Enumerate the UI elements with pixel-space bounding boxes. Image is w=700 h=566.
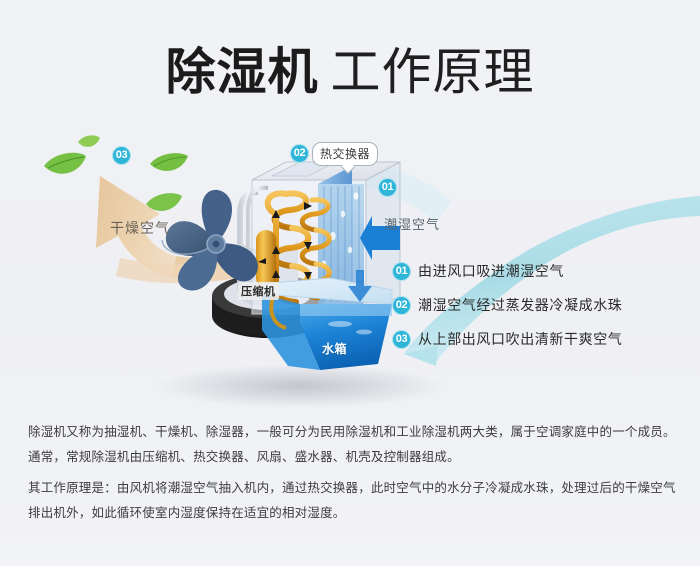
step-item-01: 01 由进风口吸进潮湿空气 (392, 254, 692, 288)
dry-air-label: 干燥空气 (110, 218, 170, 238)
humid-air-label: 潮湿空气 (384, 214, 440, 233)
heat-exchanger-label: 热交换器 (320, 147, 370, 161)
description-paragraph-1: 除湿机又称为抽湿机、干燥机、除湿器，一般可分为民用除湿机和工业除湿机两大类，属于… (28, 420, 676, 470)
step-item-02: 02 潮湿空气经过蒸发器冷凝成水珠 (392, 288, 692, 322)
dehumidifier-infographic: 除湿机工作原理 (0, 0, 700, 566)
heat-exchanger-callout: 热交换器 (312, 142, 378, 166)
description-p1-line2: 通常，常规除湿机由压缩机、热交换器、风扇、盛水器、机壳及控制器组成。 (28, 445, 676, 470)
step-badge-01: 01 (392, 262, 411, 281)
step-text-03: 从上部出风口吹出清新干爽空气 (418, 329, 622, 349)
water-tank-label: 水箱 (322, 340, 347, 357)
page-title: 除湿机工作原理 (0, 32, 700, 104)
ground-shadow (155, 364, 445, 408)
page-title-light: 工作原理 (331, 44, 535, 100)
compressor-label: 压缩机 (238, 282, 279, 300)
page-title-bold: 除湿机 (166, 44, 319, 100)
steps-list: 01 由进风口吸进潮湿空气 02 潮湿空气经过蒸发器冷凝成水珠 03 从上部出风… (392, 254, 692, 356)
description-p2-line2: 排出机外，如此循环使室内湿度保持在适宜的相对湿度。 (28, 501, 676, 526)
step-text-01: 由进风口吸进潮湿空气 (418, 261, 564, 281)
step-item-03: 03 从上部出风口吹出清新干爽空气 (392, 322, 692, 356)
diagram-badge-03: 03 (112, 146, 131, 165)
diagram-badge-01: 01 (378, 178, 397, 197)
description-p1-line1: 除湿机又称为抽湿机、干燥机、除湿器，一般可分为民用除湿机和工业除湿机两大类，属于… (28, 420, 676, 445)
diagram-badge-02: 02 (290, 144, 309, 163)
step-badge-03: 03 (392, 330, 411, 349)
description-paragraph-2: 其工作原理是：由风机将潮湿空气抽入机内，通过热交换器，此时空气中的水分子冷凝成水… (28, 476, 676, 526)
step-badge-02: 02 (392, 296, 411, 315)
step-text-02: 潮湿空气经过蒸发器冷凝成水珠 (418, 295, 622, 315)
description-p2-line1: 其工作原理是：由风机将潮湿空气抽入机内，通过热交换器，此时空气中的水分子冷凝成水… (28, 476, 676, 501)
water-tank-rim (300, 304, 392, 316)
